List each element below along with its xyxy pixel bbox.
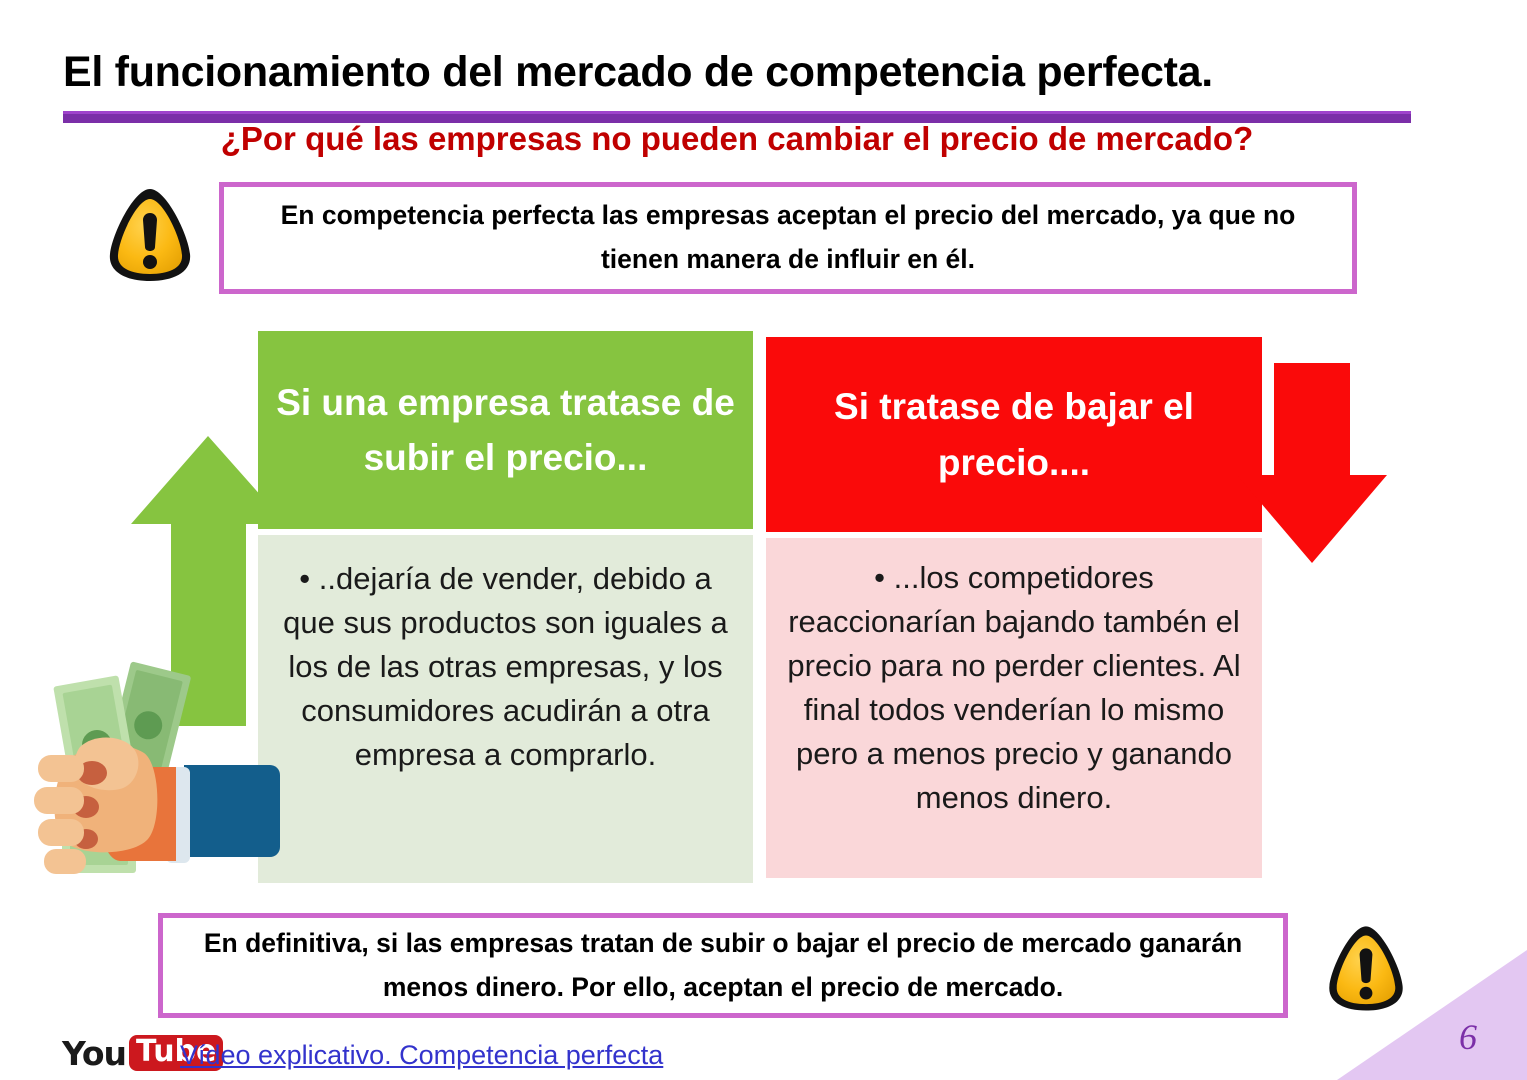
column-raise-price-heading: Si una empresa tratase de subir el preci… (258, 331, 753, 529)
page-subtitle: ¿Por qué las empresas no pueden cambiar … (63, 120, 1411, 158)
youtube-you-text: You (62, 1034, 126, 1073)
page-number: 6 (1459, 1016, 1477, 1058)
down-arrow-icon (1237, 363, 1387, 563)
top-callout-text: En competencia perfecta las empresas ace… (224, 194, 1352, 281)
top-callout-box: En competencia perfecta las empresas ace… (219, 182, 1357, 294)
bottom-callout-text: En definitiva, si las empresas tratan de… (163, 922, 1283, 1009)
column-lower-price-body: • ...los competidores reaccionarían baja… (766, 538, 1262, 878)
warning-exclamation-icon (98, 182, 202, 287)
column-lower-price-heading: Si tratase de bajar el precio.... (766, 337, 1262, 532)
page-title: El funcionamiento del mercado de compete… (63, 48, 1443, 97)
column-raise-price-body: • ..dejaría de vender, debido a que sus … (258, 535, 753, 883)
column-raise-price: Si una empresa tratase de subir el preci… (258, 331, 753, 883)
video-link[interactable]: Vídeo explicativo. Competencia perfecta (180, 1040, 663, 1071)
slide-canvas: El funcionamiento del mercado de compete… (0, 0, 1527, 1080)
hand-holding-money-icon (24, 655, 294, 890)
bottom-callout-box: En definitiva, si las empresas tratan de… (158, 913, 1288, 1018)
warning-exclamation-icon-bottom (1318, 920, 1414, 1016)
column-lower-price: Si tratase de bajar el precio.... • ...l… (766, 337, 1262, 878)
